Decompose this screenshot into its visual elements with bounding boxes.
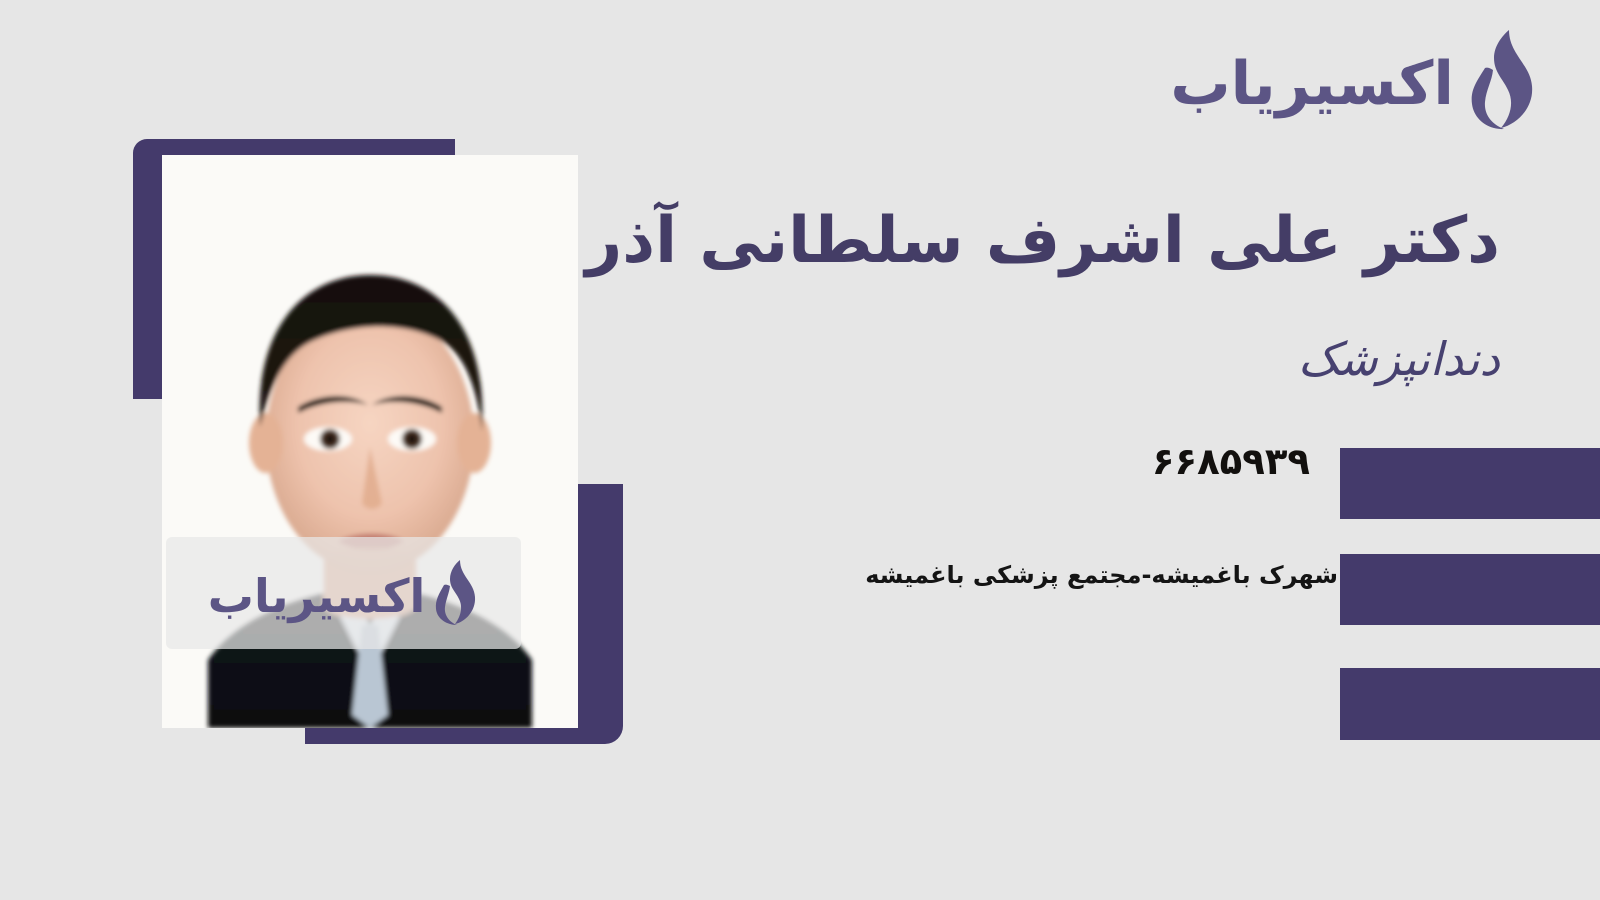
brand-name: اکسیریاب bbox=[1170, 54, 1454, 114]
doctor-name: دکتر علی اشرف سلطانی آذر bbox=[585, 206, 1500, 278]
clinic-address: شهرک باغمیشه-مجتمع پزشکی باغمیشه bbox=[865, 560, 1338, 591]
watermark-name: اکسیریاب bbox=[208, 573, 426, 619]
photo-composition: اکسیریاب bbox=[133, 139, 623, 744]
specialty-label: دندانپزشک bbox=[1298, 332, 1500, 387]
decorative-bars bbox=[1340, 0, 1600, 900]
flame-droplet-icon bbox=[1464, 28, 1538, 132]
phone-number: ۶۶۸۵۹۳۹ bbox=[1152, 440, 1310, 484]
flame-droplet-icon bbox=[431, 559, 479, 627]
profile-card: اکسیریاب bbox=[0, 0, 1600, 900]
decorative-bar bbox=[1340, 668, 1600, 740]
decorative-bar bbox=[1340, 554, 1600, 625]
photo-watermark: اکسیریاب bbox=[166, 537, 521, 649]
brand-logo: اکسیریاب bbox=[1170, 28, 1538, 132]
decorative-bar bbox=[1340, 448, 1600, 519]
